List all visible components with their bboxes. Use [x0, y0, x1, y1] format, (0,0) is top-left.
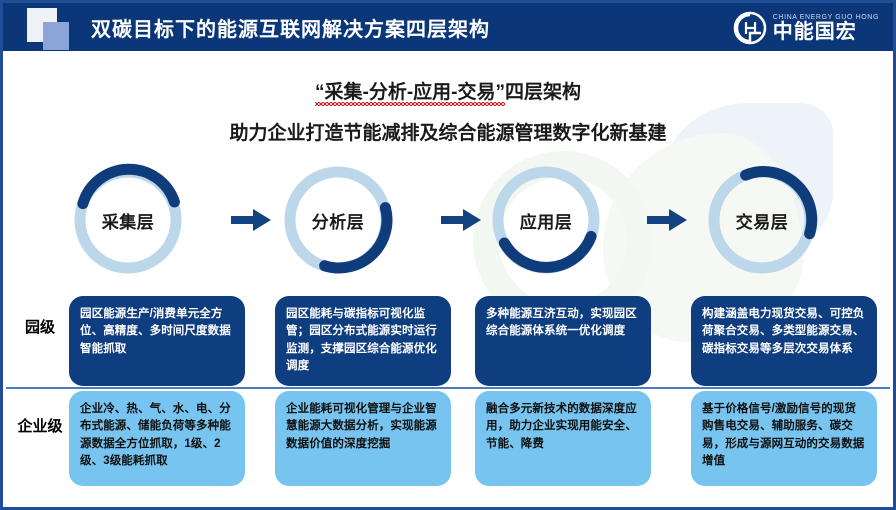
headline-block: “采集-分析-应用-交易”四层架构 助力企业打造节能减排及综合能源管理数字化新基…: [3, 77, 893, 145]
logo-english-text: CHINA ENERGY GUO HONG: [773, 14, 879, 21]
row-label-park: 园级: [17, 319, 63, 336]
flow-step-4[interactable]: 交易层: [703, 161, 821, 279]
row-label-enterprise: 企业级: [17, 418, 63, 435]
card-enterprise-collection[interactable]: 企业冷、热、气、水、电、分布式能源、储能负荷等多种能源数据全方位抓取，1级、2级…: [69, 391, 245, 486]
row-divider: [6, 387, 890, 389]
card-park-trading[interactable]: 构建涵盖电力现货交易、可控负荷聚合交易、多类型能源交易、碳指标交易等多层次交易体…: [691, 296, 877, 386]
card-enterprise-analysis[interactable]: 企业能耗可视化管理与企业智慧能源大数据分析，实现能源数据价值的深度挖掘: [275, 391, 451, 486]
slide-canvas: 双碳目标下的能源互联网解决方案四层架构 CHINA ENERGY GUO HON…: [0, 0, 896, 510]
headline-quoted-phrase: “采集-分析-应用-交易”: [315, 82, 505, 103]
arrow-right-icon-3: [647, 209, 687, 231]
header-bar: 双碳目标下的能源互联网解决方案四层架构 CHINA ENERGY GUO HON…: [3, 3, 893, 51]
flow-step-1-label: 采集层: [69, 161, 187, 279]
arrow-right-icon-1: [231, 209, 271, 231]
flow-step-4-label: 交易层: [703, 161, 821, 279]
card-park-collection[interactable]: 园区能源生产/消费单元全方位、高精度、多时间尺度数据智能抓取: [69, 296, 245, 386]
flow-step-2-label: 分析层: [279, 161, 397, 279]
headline-line-1-tail: 四层架构: [505, 82, 581, 103]
logo-chinese-text: 中能国宏: [773, 22, 879, 42]
card-park-analysis[interactable]: 园区能耗与碳指标可视化监管；园区分布式能源实时运行监测，支撑园区综合能源优化调度: [275, 296, 451, 386]
square-blue-icon: [43, 22, 69, 50]
flow-step-3[interactable]: 应用层: [487, 161, 605, 279]
brand-logo: CHINA ENERGY GUO HONG 中能国宏: [733, 8, 879, 48]
card-enterprise-trading[interactable]: 基于价格信号/激励信号的现货购售电交易、辅助服务、碳交易，形成与源网互动的交易数…: [691, 391, 877, 486]
card-enterprise-application[interactable]: 融合多元新技术的数据深度应用，助力企业实现用能安全、节能、降费: [475, 391, 651, 486]
flow-step-1[interactable]: 采集层: [69, 161, 187, 279]
guohong-circle-logo-icon: [733, 11, 767, 45]
arrow-right-icon-2: [441, 209, 481, 231]
card-park-application[interactable]: 多种能源互济互动，实现园区综合能源体系统一优化调度: [475, 296, 651, 386]
flow-step-3-label: 应用层: [487, 161, 605, 279]
overlapping-squares-icon: [21, 6, 83, 48]
flow-step-2[interactable]: 分析层: [279, 161, 397, 279]
flow-diagram: 采集层 分析层 应用层: [3, 161, 893, 279]
headline-line-1: “采集-分析-应用-交易”四层架构: [315, 77, 581, 104]
headline-line-2: 助力企业打造节能减排及综合能源管理数字化新基建: [3, 118, 893, 145]
page-title: 双碳目标下的能源互联网解决方案四层架构: [91, 13, 490, 42]
